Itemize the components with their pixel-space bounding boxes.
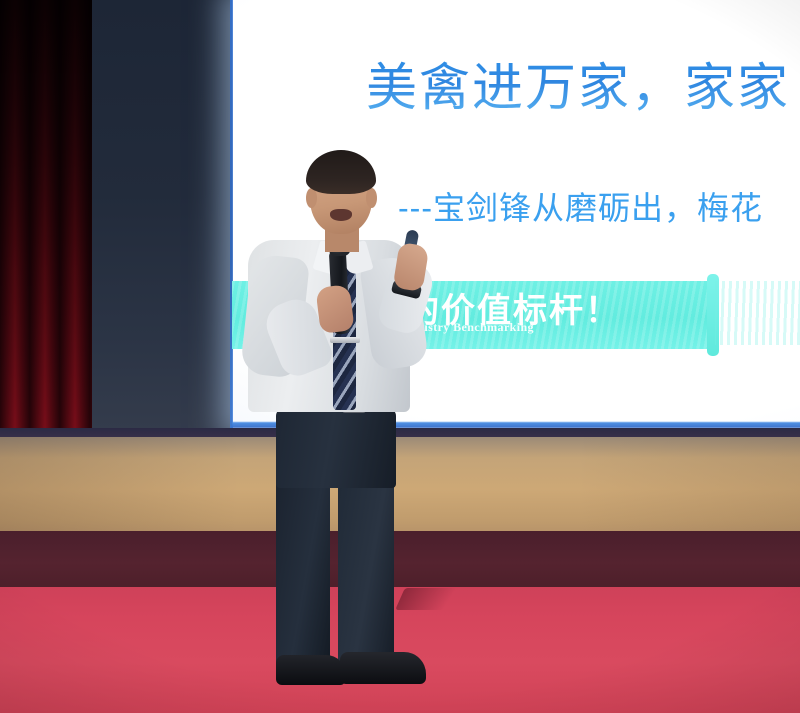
left-shoe: [276, 655, 346, 685]
right-leg: [338, 470, 394, 670]
hair: [306, 150, 376, 194]
right-shoe: [340, 652, 426, 684]
hand-holding-microphone: [315, 284, 354, 334]
right-ear: [366, 188, 377, 208]
mouth: [330, 209, 352, 221]
presentation-photo: 美禽进万家，家家 ---宝剑锋从磨砺出，梅花 的价值标杆！ dustry Ben…: [0, 0, 800, 713]
trousers: [276, 408, 396, 488]
speaker-figure: [0, 0, 800, 713]
tie-clip: [330, 337, 360, 343]
left-leg: [276, 470, 330, 670]
